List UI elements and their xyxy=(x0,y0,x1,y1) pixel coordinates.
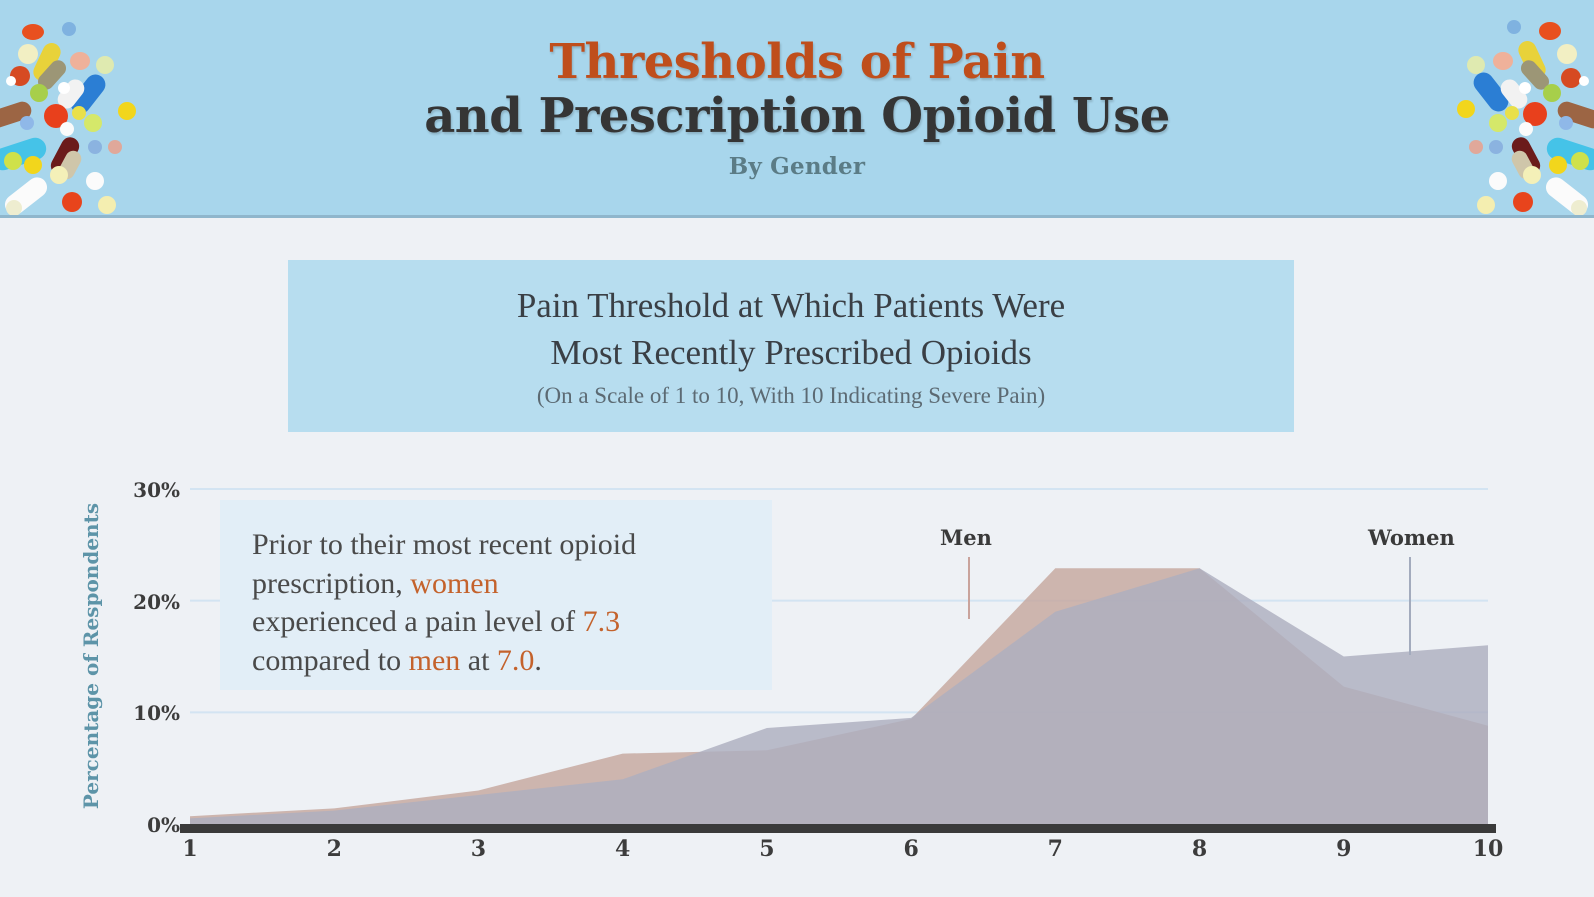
x-axis-ticks: 12345678910 xyxy=(0,836,1594,882)
annot-highlight-men-value: 7.0 xyxy=(497,644,535,677)
annot-seg2: prescription, xyxy=(252,567,410,600)
x-tick-8: 8 xyxy=(1180,836,1220,862)
x-tick-7: 7 xyxy=(1035,836,1075,862)
annot-seg4: compared to xyxy=(252,644,409,677)
x-tick-5: 5 xyxy=(747,836,787,862)
x-tick-9: 9 xyxy=(1324,836,1364,862)
annot-seg6: . xyxy=(534,644,542,677)
series-label-men: Men xyxy=(940,525,992,550)
x-tick-1: 1 xyxy=(170,836,210,862)
annotation-callout: Prior to their most recent opioid prescr… xyxy=(220,500,772,690)
x-tick-3: 3 xyxy=(458,836,498,862)
y-axis-ticks: 0%10%20%30% xyxy=(118,0,180,897)
y-axis-title: Percentage of Respondents xyxy=(78,476,104,836)
series-leader-women xyxy=(1409,557,1411,655)
annot-seg5: at xyxy=(460,644,497,677)
y-tick-30%: 30% xyxy=(124,478,180,502)
x-tick-6: 6 xyxy=(891,836,931,862)
annotation-text: Prior to their most recent opioid prescr… xyxy=(252,526,742,681)
x-axis-line xyxy=(180,824,1496,833)
y-tick-10%: 10% xyxy=(124,701,180,725)
x-tick-2: 2 xyxy=(314,836,354,862)
x-tick-4: 4 xyxy=(603,836,643,862)
y-tick-0%: 0% xyxy=(124,813,180,837)
annot-seg3: experienced a pain level of xyxy=(252,605,583,638)
annot-highlight-men: men xyxy=(409,644,461,677)
series-leader-men xyxy=(968,557,970,619)
area-chart-svg xyxy=(190,0,1488,897)
x-tick-10: 10 xyxy=(1468,836,1508,862)
y-tick-20%: 20% xyxy=(124,590,180,614)
annot-highlight-women: women xyxy=(410,567,498,600)
chart-plot-area xyxy=(190,0,1488,897)
y-axis-title-text: Percentage of Respondents xyxy=(79,503,103,809)
annot-seg1: Prior to their most recent opioid xyxy=(252,528,636,561)
annot-highlight-women-value: 7.3 xyxy=(583,605,621,638)
series-label-women: Women xyxy=(1368,525,1455,550)
